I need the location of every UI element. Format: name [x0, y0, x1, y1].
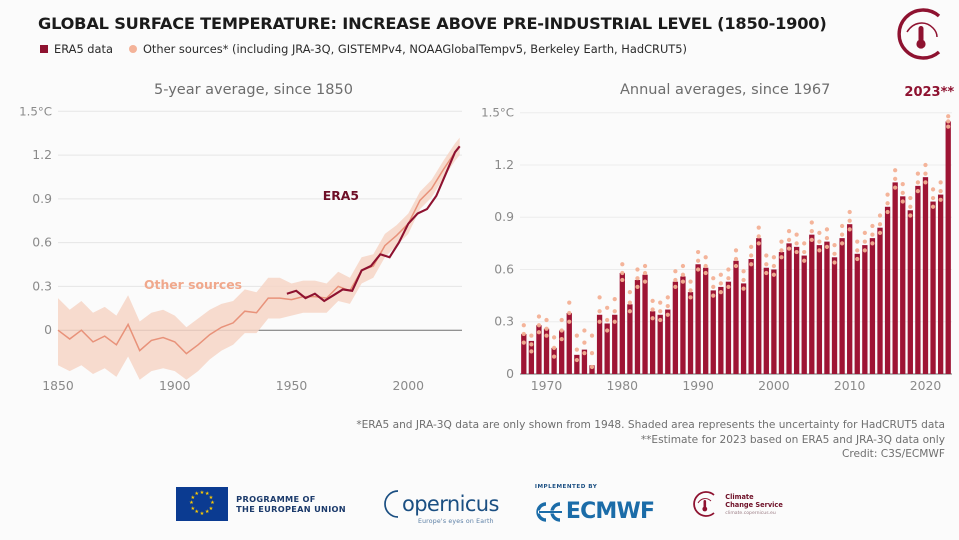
- bar: [870, 238, 875, 374]
- other-source-dot: [939, 198, 943, 202]
- bar: [688, 292, 693, 374]
- other-source-dot: [848, 227, 852, 231]
- other-source-dot: [901, 191, 905, 195]
- bar: [832, 257, 837, 374]
- other-source-dot: [855, 239, 859, 243]
- bar: [862, 245, 867, 374]
- other-source-dot: [529, 334, 533, 338]
- bar: [635, 280, 640, 374]
- header: GLOBAL SURFACE TEMPERATURE: INCREASE ABO…: [0, 0, 959, 68]
- other-source-dot: [840, 233, 844, 237]
- bar: [620, 273, 625, 374]
- bar: [885, 207, 890, 374]
- other-source-dot: [560, 318, 564, 322]
- bar: [673, 282, 678, 374]
- other-source-dot: [681, 264, 685, 268]
- bar: [809, 235, 814, 374]
- x-axis-tick-label: 1980: [607, 378, 639, 393]
- other-source-dot: [787, 229, 791, 233]
- other-source-dot: [817, 231, 821, 235]
- copernicus-tagline: Europe's eyes on Earth: [418, 518, 494, 525]
- other-source-dot: [749, 245, 753, 249]
- bar: [893, 182, 898, 374]
- c3s-logo: Climate Change Service climate.copernicu…: [688, 489, 783, 519]
- footnotes: *ERA5 and JRA-3Q data are only shown fro…: [345, 418, 945, 462]
- other-source-dot: [840, 224, 844, 228]
- other-source-dot: [605, 306, 609, 310]
- other-source-dot: [613, 297, 617, 301]
- other-source-dot: [681, 273, 685, 277]
- footnote-line-1: *ERA5 and JRA-3Q data are only shown fro…: [345, 418, 945, 433]
- other-source-dot: [688, 295, 692, 299]
- other-source-dot: [734, 264, 738, 268]
- other-source-dot: [688, 288, 692, 292]
- other-source-dot: [772, 264, 776, 268]
- copernicus-arc-icon: [380, 487, 400, 521]
- page-title: GLOBAL SURFACE TEMPERATURE: INCREASE ABO…: [38, 14, 827, 33]
- other-source-dot: [605, 328, 609, 332]
- other-source-dot: [552, 346, 556, 350]
- eu-logo-line-1: PROGRAMME OF: [236, 494, 346, 504]
- other-source-dot: [567, 320, 571, 324]
- other-source-dot: [916, 189, 920, 193]
- other-source-dot: [832, 260, 836, 264]
- other-source-dot: [620, 262, 624, 266]
- other-source-dot: [544, 318, 548, 322]
- logo-strip: ★★★★★★★★★★★★ PROGRAMME OF THE EUROPEAN U…: [0, 472, 959, 536]
- other-source-dot: [764, 271, 768, 275]
- eu-logo: ★★★★★★★★★★★★ PROGRAMME OF THE EUROPEAN U…: [176, 487, 346, 521]
- footnote-line-2: **Estimate for 2023 based on ERA5 and JR…: [345, 433, 945, 448]
- other-source-dot: [537, 314, 541, 318]
- chart-right-annual-averages: Annual averages, since 1967 00.30.60.91.…: [478, 82, 956, 402]
- other-source-dot: [537, 330, 541, 334]
- bar: [703, 268, 708, 374]
- bar: [665, 310, 670, 374]
- other-source-dot: [741, 287, 745, 291]
- other-source-dot: [931, 187, 935, 191]
- other-source-dot: [681, 280, 685, 284]
- other-source-dot: [749, 253, 753, 257]
- other-source-dot: [658, 300, 662, 304]
- other-source-dot: [893, 185, 897, 189]
- bar: [771, 269, 776, 374]
- other-source-dot: [635, 276, 639, 280]
- y-axis-tick-label: 0.9: [32, 191, 52, 206]
- c3s-line-2: Change Service: [725, 501, 783, 509]
- other-source-dot: [848, 219, 852, 223]
- other-source-dot: [802, 250, 806, 254]
- c3s-text: Climate Change Service climate.copernicu…: [725, 493, 783, 516]
- other-source-dot: [757, 241, 761, 245]
- other-source-dot: [658, 309, 662, 313]
- legend-label-era5: ERA5 data: [54, 42, 113, 56]
- other-source-dot: [537, 323, 541, 327]
- other-source-dot: [855, 257, 859, 261]
- other-source-dot: [878, 231, 882, 235]
- bar: [521, 334, 526, 374]
- bar: [824, 242, 829, 374]
- bar: [741, 283, 746, 374]
- other-source-dot: [582, 351, 586, 355]
- bar: [847, 224, 852, 374]
- other-source-dot: [946, 125, 950, 129]
- bar: [855, 254, 860, 374]
- other-source-dot: [779, 255, 783, 259]
- other-source-dot: [893, 177, 897, 181]
- other-source-dot: [544, 327, 548, 331]
- other-source-dot: [643, 280, 647, 284]
- eu-star-icon: ★: [205, 510, 210, 515]
- other-source-dot: [870, 241, 874, 245]
- other-source-dot: [575, 358, 579, 362]
- other-source-dot: [696, 250, 700, 254]
- x-axis-tick-label: 1950: [276, 378, 308, 393]
- other-source-dot: [878, 213, 882, 217]
- bar: [574, 355, 579, 374]
- other-source-dot: [916, 180, 920, 184]
- other-source-dot: [529, 342, 533, 346]
- other-source-dot: [567, 311, 571, 315]
- ecmwf-double-c-icon: [533, 501, 563, 523]
- other-source-dot: [575, 347, 579, 351]
- other-source-dot: [939, 189, 943, 193]
- other-source-dot: [635, 267, 639, 271]
- bar: [794, 247, 799, 374]
- other-source-dot: [719, 290, 723, 294]
- x-axis-tick-label: 2000: [758, 378, 790, 393]
- x-axis-tick-label: 1990: [682, 378, 714, 393]
- other-source-dot: [711, 285, 715, 289]
- bar: [839, 238, 844, 374]
- other-source-dot: [832, 252, 836, 256]
- ecmwf-wordmark: ECMWF: [566, 499, 654, 524]
- other-source-dot: [908, 213, 912, 217]
- other-source-dot: [741, 278, 745, 282]
- other-source-dot: [734, 248, 738, 252]
- other-source-dot: [764, 253, 768, 257]
- bar: [627, 304, 632, 374]
- other-source-dot: [651, 307, 655, 311]
- bar: [680, 276, 685, 374]
- other-source-dot: [901, 182, 905, 186]
- eu-logo-text: PROGRAMME OF THE EUROPEAN UNION: [236, 494, 346, 515]
- y-axis-tick-label: 0.6: [32, 235, 52, 250]
- other-source-dot: [802, 241, 806, 245]
- other-source-dot: [870, 233, 874, 237]
- bar: [726, 282, 731, 374]
- uncertainty-band: [58, 138, 460, 380]
- chart-left-plot: 00.30.60.91.21.5°C1850190019502000ERA5Ot…: [14, 82, 466, 402]
- other-source-dot: [544, 334, 548, 338]
- other-source-dot: [704, 255, 708, 259]
- other-source-dot: [931, 196, 935, 200]
- other-source-dot: [590, 365, 594, 369]
- y-axis-tick-label: 0.3: [32, 278, 52, 293]
- other-source-dot: [810, 220, 814, 224]
- era5-line: [287, 146, 460, 301]
- other-source-dot: [795, 233, 799, 237]
- other-source-dot: [757, 234, 761, 238]
- other-source-dot: [832, 243, 836, 247]
- other-source-dot: [575, 334, 579, 338]
- other-source-dot: [552, 354, 556, 358]
- x-axis-tick-label: 2000: [393, 378, 425, 393]
- other-source-dot: [741, 269, 745, 273]
- other-source-dot: [635, 285, 639, 289]
- other-source-dot: [719, 281, 723, 285]
- eu-star-icon: ★: [194, 492, 199, 497]
- c3s-thermometer-icon: [887, 4, 951, 64]
- other-source-dot: [726, 267, 730, 271]
- other-source-dot: [529, 349, 533, 353]
- other-source-dot: [863, 248, 867, 252]
- bar: [802, 256, 807, 374]
- bar: [559, 330, 564, 374]
- other-source-dot: [825, 236, 829, 240]
- legend: ERA5 data Other sources* (including JRA-…: [40, 42, 687, 56]
- other-source-dot: [522, 332, 526, 336]
- bar: [711, 290, 716, 374]
- y-axis-tick-label: 0.3: [494, 314, 514, 329]
- other-source-dot: [885, 192, 889, 196]
- eu-flag-icon: ★★★★★★★★★★★★: [176, 487, 228, 521]
- bar: [923, 177, 928, 374]
- bar: [779, 252, 784, 374]
- c3s-url: climate.copernicus.eu: [725, 511, 783, 516]
- bar: [900, 196, 905, 374]
- other-source-dot: [787, 238, 791, 242]
- other-source-dot: [908, 196, 912, 200]
- annotation-era5: ERA5: [323, 188, 359, 203]
- other-source-dot: [757, 226, 761, 230]
- other-source-dot: [923, 172, 927, 176]
- other-source-dot: [597, 295, 601, 299]
- other-source-dot: [901, 199, 905, 203]
- other-source-dot: [719, 273, 723, 277]
- c3s-line-1: Climate: [725, 493, 783, 501]
- bar: [650, 311, 655, 374]
- other-source-dot: [726, 285, 730, 289]
- other-source-dot: [825, 245, 829, 249]
- other-source-dot: [772, 273, 776, 277]
- chart-left-five-year-average: 5-year average, since 1850 00.30.60.91.2…: [14, 82, 466, 402]
- bar: [642, 275, 647, 374]
- other-source-dot: [923, 163, 927, 167]
- other-source-dot: [666, 313, 670, 317]
- other-source-dot: [711, 293, 715, 297]
- other-source-dot: [749, 262, 753, 266]
- other-source-dot: [908, 205, 912, 209]
- other-source-dot: [840, 241, 844, 245]
- ecmwf-implemented-by-label: IMPLEMENTED BY: [535, 484, 597, 490]
- x-axis-tick-label: 1970: [531, 378, 563, 393]
- other-source-dot: [560, 328, 564, 332]
- other-source-dot: [848, 210, 852, 214]
- other-source-dot: [590, 334, 594, 338]
- ecmwf-row: ECMWF: [533, 499, 654, 524]
- bar: [551, 348, 556, 374]
- annotation-other-sources: Other sources: [144, 277, 242, 292]
- chart-right-plot: 00.30.60.91.21.5°C1970198019902000201020…: [478, 82, 956, 402]
- other-source-dot: [673, 269, 677, 273]
- other-source-dot: [605, 318, 609, 322]
- bar: [718, 287, 723, 374]
- other-source-dot: [772, 255, 776, 259]
- other-source-dot: [628, 309, 632, 313]
- infographic-root: GLOBAL SURFACE TEMPERATURE: INCREASE ABO…: [0, 0, 959, 540]
- bar: [946, 121, 951, 374]
- eu-star-icon: ★: [200, 491, 205, 496]
- other-source-dot: [597, 309, 601, 313]
- other-source-dot: [597, 320, 601, 324]
- other-source-dot: [810, 238, 814, 242]
- other-source-dot: [795, 250, 799, 254]
- other-source-dot: [704, 264, 708, 268]
- copernicus-logo: opernicusEurope's eyes on Earth: [380, 487, 499, 521]
- y-axis-tick-label: 1.2: [32, 147, 52, 162]
- bar: [658, 315, 663, 374]
- legend-square-marker-icon: [40, 45, 48, 53]
- bar: [817, 245, 822, 374]
- legend-label-other-sources: Other sources* (including JRA-3Q, GISTEM…: [143, 42, 687, 56]
- other-source-dot: [863, 239, 867, 243]
- other-source-dot: [870, 224, 874, 228]
- other-source-dot: [946, 119, 950, 123]
- annotation-2023: 2023**: [904, 85, 954, 100]
- other-source-dot: [651, 299, 655, 303]
- y-axis-tick-label: 0.6: [494, 261, 514, 276]
- other-source-dot: [855, 248, 859, 252]
- y-axis-tick-label: 0.9: [494, 209, 514, 224]
- bar: [756, 238, 761, 374]
- bar: [749, 259, 754, 374]
- other-source-dot: [893, 168, 897, 172]
- bar: [908, 210, 913, 374]
- legend-circle-marker-icon: [129, 45, 137, 53]
- y-axis-tick-label: 1.5°C: [481, 106, 514, 120]
- bar: [938, 195, 943, 374]
- other-source-dot: [666, 304, 670, 308]
- other-source-dot: [590, 351, 594, 355]
- other-source-dot: [726, 276, 730, 280]
- x-axis-tick-label: 2010: [834, 378, 866, 393]
- y-axis-tick-label: 1.2: [494, 157, 514, 172]
- bar: [764, 268, 769, 374]
- c3s-thermometer-small-icon: [688, 489, 720, 519]
- bar: [786, 243, 791, 374]
- eu-logo-line-2: THE EUROPEAN UNION: [236, 504, 346, 514]
- other-source-dot: [704, 271, 708, 275]
- other-source-dot: [810, 229, 814, 233]
- other-source-dot: [817, 239, 821, 243]
- other-source-dot: [779, 239, 783, 243]
- other-source-dot: [885, 201, 889, 205]
- y-axis-tick-label: 0: [44, 322, 52, 337]
- x-axis-tick-label: 1900: [159, 378, 191, 393]
- other-source-dot: [613, 309, 617, 313]
- other-source-dot: [711, 276, 715, 280]
- bar: [733, 261, 738, 374]
- x-axis-tick-label: 1850: [42, 378, 74, 393]
- other-source-dot: [628, 300, 632, 304]
- other-source-dot: [795, 241, 799, 245]
- y-axis-tick-label: 0: [506, 366, 514, 381]
- other-source-dot: [673, 278, 677, 282]
- other-source-dot: [522, 323, 526, 327]
- bar: [877, 228, 882, 374]
- other-source-dot: [931, 205, 935, 209]
- eu-star-icon: ★: [200, 512, 205, 517]
- other-source-dot: [582, 341, 586, 345]
- other-source-dot: [787, 246, 791, 250]
- bar: [915, 186, 920, 374]
- other-source-dot: [651, 316, 655, 320]
- x-axis-tick-label: 2020: [910, 378, 942, 393]
- eu-star-icon: ★: [190, 507, 195, 512]
- other-source-dot: [522, 341, 526, 345]
- other-source-dot: [560, 337, 564, 341]
- other-source-dot: [613, 320, 617, 324]
- other-source-dot: [885, 210, 889, 214]
- other-source-dot: [666, 295, 670, 299]
- other-source-dot: [628, 290, 632, 294]
- other-source-dot: [946, 114, 950, 118]
- other-source-dot: [552, 335, 556, 339]
- other-source-dot: [939, 180, 943, 184]
- other-source-dot: [696, 259, 700, 263]
- other-source-dot: [734, 257, 738, 261]
- ecmwf-logo: IMPLEMENTED BY ECMWF: [533, 484, 654, 524]
- other-source-dot: [916, 172, 920, 176]
- other-source-dot: [620, 278, 624, 282]
- other-source-dot: [620, 271, 624, 275]
- other-source-dot: [658, 318, 662, 322]
- footnote-credit: Credit: C3S/ECMWF: [345, 447, 945, 462]
- other-source-dot: [923, 180, 927, 184]
- other-source-dot: [825, 227, 829, 231]
- other-source-dot: [643, 271, 647, 275]
- other-source-dot: [567, 300, 571, 304]
- other-source-dot: [673, 285, 677, 289]
- other-source-dot: [779, 248, 783, 252]
- y-axis-tick-label: 1.5°C: [19, 104, 52, 118]
- other-source-dot: [863, 231, 867, 235]
- bar: [930, 202, 935, 374]
- eu-star-icon: ★: [189, 501, 194, 506]
- other-source-dot: [643, 264, 647, 268]
- copernicus-wordmark: opernicusEurope's eyes on Earth: [402, 492, 499, 516]
- bar: [695, 264, 700, 374]
- other-source-dot: [688, 280, 692, 284]
- other-source-dot: [764, 262, 768, 266]
- other-source-dot: [582, 328, 586, 332]
- other-source-dot: [878, 222, 882, 226]
- other-source-dot: [696, 267, 700, 271]
- other-source-dot: [817, 248, 821, 252]
- other-source-dot: [802, 259, 806, 263]
